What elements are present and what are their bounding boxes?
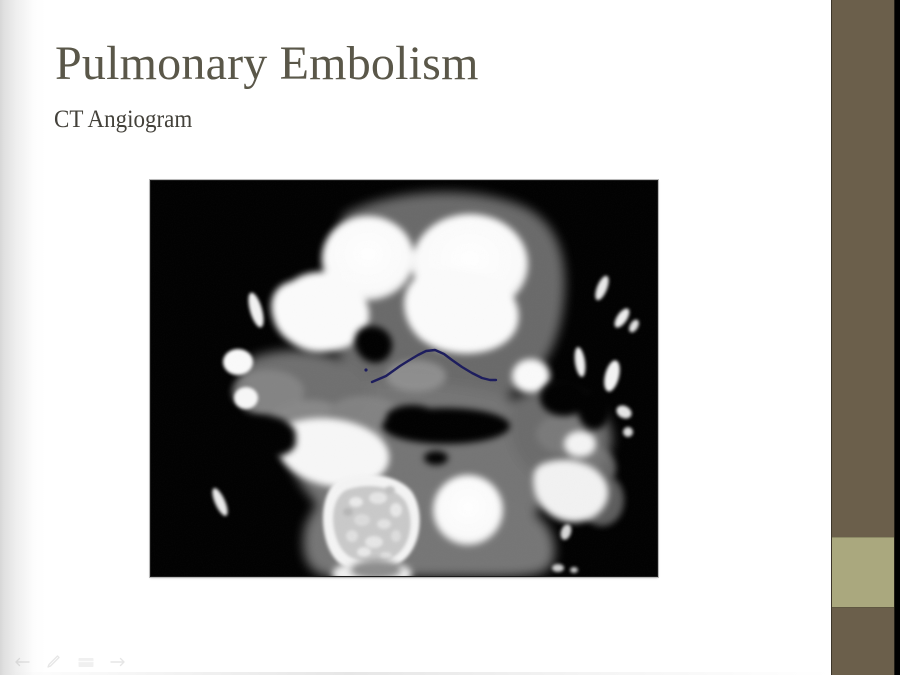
- outer-frame-right: [896, 0, 900, 675]
- presentation-slide: Pulmonary Embolism CT Angiogram: [0, 0, 900, 675]
- slide-canvas: Pulmonary Embolism CT Angiogram: [0, 0, 831, 675]
- sidebar-accent-band: [832, 537, 894, 608]
- slides-menu-icon[interactable]: [76, 655, 96, 669]
- canvas-left-shading: [0, 0, 34, 675]
- ct-angiogram-image: [150, 180, 658, 577]
- slide-theme-sidebar: [831, 0, 895, 675]
- ct-angiogram-canvas: [150, 180, 658, 577]
- arrow-right-icon[interactable]: [108, 655, 128, 669]
- arrow-left-icon[interactable]: [12, 655, 32, 669]
- presentation-controls[interactable]: [12, 652, 128, 672]
- slide-title: Pulmonary Embolism: [55, 38, 479, 90]
- pen-icon[interactable]: [44, 655, 64, 669]
- slide-subtitle: CT Angiogram: [54, 106, 192, 134]
